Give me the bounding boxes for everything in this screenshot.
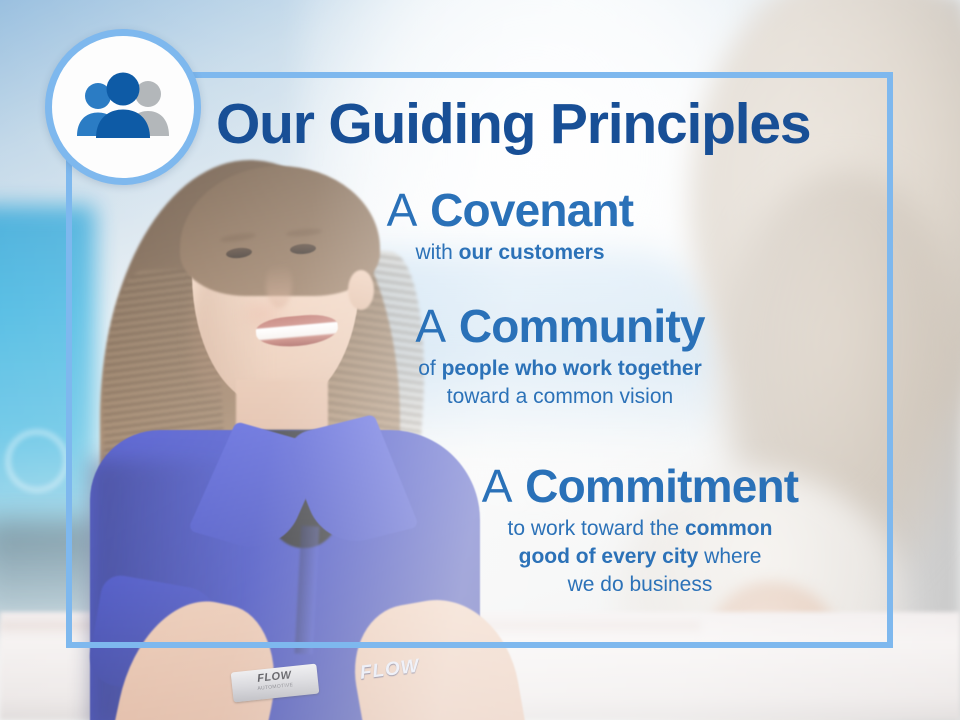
plain-text: of <box>418 357 441 380</box>
guiding-principles-graphic: FLOW AUTOMOTIVE FLOW Our Guiding Princip… <box>0 0 960 720</box>
principle-article: A <box>482 460 513 512</box>
people-icon-badge <box>45 29 201 185</box>
associate-ear <box>348 270 374 310</box>
principle-subtext: with our customers <box>330 239 690 267</box>
associate-nose <box>266 264 292 308</box>
principle-subtext-line: toward a common vision <box>380 383 740 411</box>
principle-word: Commitment <box>525 460 798 512</box>
principle-word: Covenant <box>430 184 633 236</box>
principle-word: Community <box>459 300 705 352</box>
principle-block-commitment: A Commitment to work toward the commongo… <box>430 462 850 598</box>
plain-text: toward a common vision <box>447 385 673 408</box>
people-group-icon <box>71 70 175 144</box>
principle-subtext: to work toward the commongood of every c… <box>430 515 850 598</box>
principle-block-covenant: A Covenant with our customers <box>330 186 690 267</box>
principle-subtext-line: we do business <box>430 571 850 599</box>
plain-text: where <box>698 545 761 568</box>
principle-subtext-line: of people who work together <box>380 355 740 383</box>
page-title: Our Guiding Principles <box>216 96 876 153</box>
plain-text: with <box>415 241 458 264</box>
emphasis-text: good of every city <box>519 545 699 568</box>
principle-block-community: A Community of people who work togethert… <box>380 302 740 411</box>
blurred-vw-logo <box>6 430 68 492</box>
principle-subtext: of people who work togethertoward a comm… <box>380 355 740 410</box>
principle-heading: A Community <box>380 302 740 350</box>
principle-article: A <box>387 184 418 236</box>
principle-subtext-line: with our customers <box>330 239 690 267</box>
principle-subtext-line: good of every city where <box>430 543 850 571</box>
emphasis-text: our customers <box>459 241 605 264</box>
plain-text: we do business <box>568 573 713 596</box>
principle-heading: A Covenant <box>330 186 690 234</box>
emphasis-text: people who work together <box>442 357 702 380</box>
emphasis-text: common <box>685 517 773 540</box>
principle-article: A <box>415 300 446 352</box>
plain-text: to work toward the <box>508 517 685 540</box>
principle-subtext-line: to work toward the common <box>430 515 850 543</box>
principle-heading: A Commitment <box>430 462 850 510</box>
